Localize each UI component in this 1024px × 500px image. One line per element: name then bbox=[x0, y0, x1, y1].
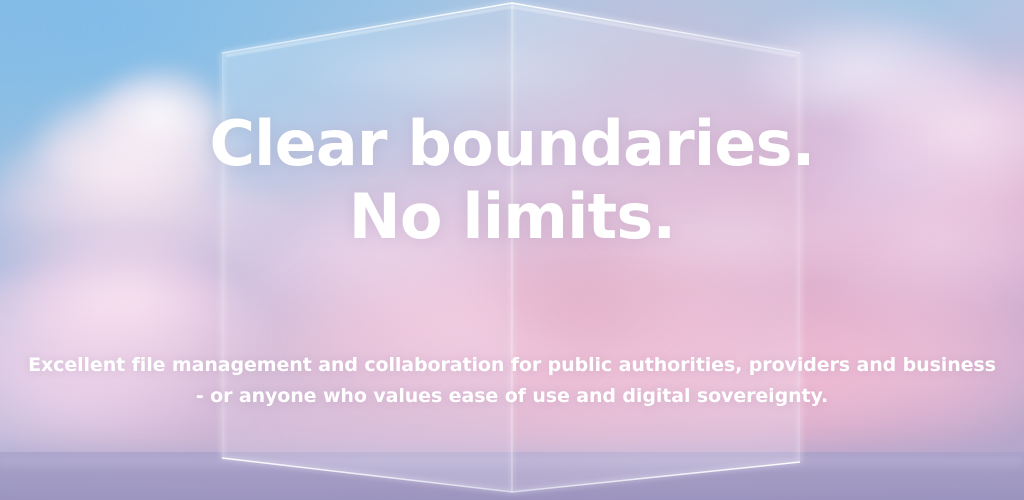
page-title: Clear boundaries. No limits. bbox=[0, 108, 1024, 253]
hero-content: Clear boundaries. No limits. Excellent f… bbox=[0, 0, 1024, 500]
hero-banner: Clear boundaries. No limits. Excellent f… bbox=[0, 0, 1024, 500]
headline-line-1: Clear boundaries. bbox=[0, 108, 1024, 181]
hero-subtitle: Excellent file management and collaborat… bbox=[22, 350, 1002, 412]
headline-line-2: No limits. bbox=[0, 181, 1024, 254]
